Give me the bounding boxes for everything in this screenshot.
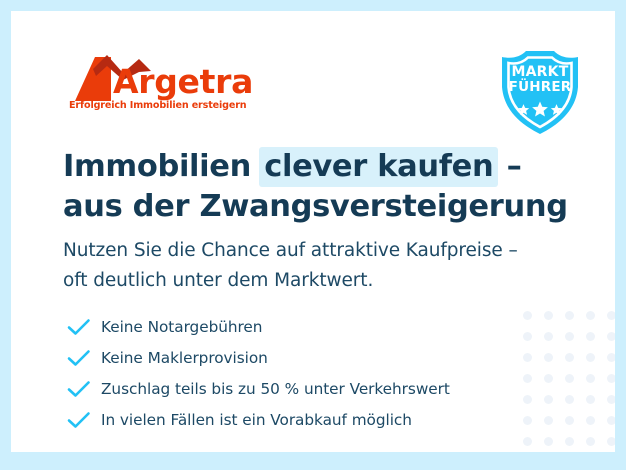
dot bbox=[607, 332, 615, 341]
check-icon bbox=[67, 380, 91, 398]
dot-grid-decoration bbox=[523, 311, 615, 452]
headline-highlight: clever kaufen bbox=[259, 147, 498, 187]
page-title: Immobilien clever kaufen – aus der Zwang… bbox=[63, 147, 563, 227]
dot-row bbox=[523, 332, 615, 341]
list-item: Keine Notargebühren bbox=[67, 311, 527, 342]
list-item-label: Zuschlag teils bis zu 50 % unter Verkehr… bbox=[101, 380, 450, 398]
dot bbox=[544, 395, 553, 404]
dot bbox=[586, 311, 595, 320]
dot-row bbox=[523, 353, 615, 362]
logo-wordmark: Argetra bbox=[113, 65, 253, 98]
argetra-logo: Argetra Erfolgreich Immobilien ersteiger… bbox=[67, 52, 252, 114]
subtitle-line-1: Nutzen Sie die Chance auf attraktive Kau… bbox=[63, 236, 583, 266]
dot bbox=[544, 353, 553, 362]
dot bbox=[565, 416, 574, 425]
dot bbox=[607, 437, 615, 446]
dot bbox=[586, 416, 595, 425]
promo-card: Argetra Erfolgreich Immobilien ersteiger… bbox=[11, 11, 615, 452]
dot bbox=[607, 353, 615, 362]
dot bbox=[586, 395, 595, 404]
page-subtitle: Nutzen Sie die Chance auf attraktive Kau… bbox=[63, 236, 583, 296]
dot bbox=[565, 374, 574, 383]
shield-icon bbox=[498, 47, 582, 135]
dot bbox=[607, 374, 615, 383]
dot bbox=[565, 332, 574, 341]
benefit-list: Keine Notargebühren Keine Maklerprovisio… bbox=[67, 311, 527, 435]
dot-row bbox=[523, 374, 615, 383]
promo-banner: Argetra Erfolgreich Immobilien ersteiger… bbox=[0, 0, 626, 470]
dot bbox=[607, 311, 615, 320]
dot bbox=[523, 437, 532, 446]
dot bbox=[586, 353, 595, 362]
headline-line-2: aus der Zwangsversteigerung bbox=[63, 187, 563, 227]
dot-row bbox=[523, 416, 615, 425]
check-icon bbox=[67, 349, 91, 367]
dot bbox=[544, 332, 553, 341]
dot bbox=[544, 416, 553, 425]
dot-row bbox=[523, 311, 615, 320]
dot bbox=[544, 437, 553, 446]
list-item: Keine Maklerprovision bbox=[67, 342, 527, 373]
dot-row bbox=[523, 437, 615, 446]
headline-text-before: Immobilien bbox=[63, 149, 261, 184]
dot bbox=[544, 374, 553, 383]
dot bbox=[544, 311, 553, 320]
list-item: In vielen Fällen ist ein Vorabkauf mögli… bbox=[67, 404, 527, 435]
logo-tagline: Erfolgreich Immobilien ersteigern bbox=[69, 100, 246, 111]
list-item-label: Keine Notargebühren bbox=[101, 318, 262, 336]
list-item-label: In vielen Fällen ist ein Vorabkauf mögli… bbox=[101, 411, 412, 429]
dot bbox=[565, 395, 574, 404]
dot bbox=[586, 332, 595, 341]
dot bbox=[565, 353, 574, 362]
check-icon bbox=[67, 411, 91, 429]
headline-line-1: Immobilien clever kaufen – bbox=[63, 147, 563, 187]
market-leader-badge: MARKT FÜHRER bbox=[498, 47, 582, 135]
check-icon bbox=[67, 318, 91, 336]
list-item: Zuschlag teils bis zu 50 % unter Verkehr… bbox=[67, 373, 527, 404]
dot bbox=[607, 395, 615, 404]
list-item-label: Keine Maklerprovision bbox=[101, 349, 268, 367]
subtitle-line-2: oft deutlich unter dem Marktwert. bbox=[63, 266, 583, 296]
dot bbox=[565, 437, 574, 446]
dot bbox=[565, 311, 574, 320]
headline-text-after: – bbox=[496, 149, 521, 184]
dot-row bbox=[523, 395, 615, 404]
dot bbox=[586, 374, 595, 383]
dot bbox=[607, 416, 615, 425]
dot bbox=[586, 437, 595, 446]
